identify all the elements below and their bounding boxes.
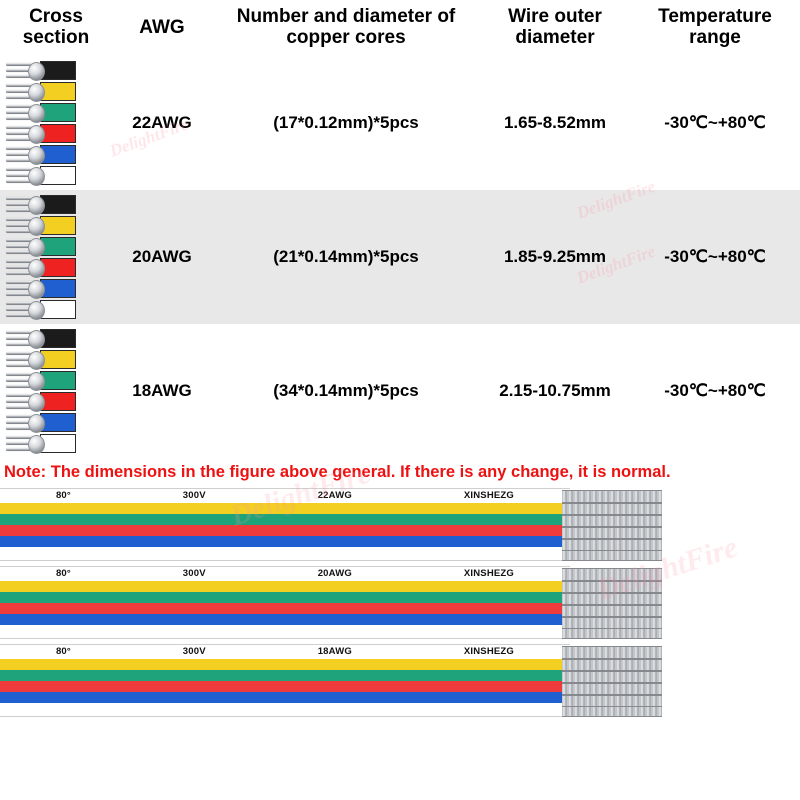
cell-awg: 20AWG	[112, 190, 212, 324]
cell-awg: 18AWG	[112, 324, 212, 458]
wire-unit	[6, 278, 76, 299]
copper-coil-icon	[6, 166, 40, 185]
header-outer-diameter: Wire outer diameter	[480, 0, 630, 56]
cell-cores: (21*0.14mm)*5pcs	[212, 190, 480, 324]
jacket-swatch	[40, 258, 76, 277]
jacket-swatch	[40, 103, 76, 122]
wire-unit	[6, 123, 76, 144]
header-temperature-range: Temperature range	[630, 0, 800, 56]
copper-coil-icon	[6, 371, 40, 390]
wire-spec-table: Cross section AWG Number and diameter of…	[0, 0, 800, 458]
jacket-swatch	[40, 195, 76, 214]
jacket-swatch	[40, 350, 76, 369]
wire-unit	[6, 328, 76, 349]
header-cores: Number and diameter of copper cores	[212, 0, 480, 56]
wire-unit	[6, 194, 76, 215]
jacket-swatch	[40, 166, 76, 185]
wire-unit	[6, 81, 76, 102]
cell-outer-diameter: 1.65-8.52mm	[480, 56, 630, 190]
jacket-swatch	[40, 300, 76, 319]
wire-unit	[6, 299, 76, 320]
wire-unit	[6, 370, 76, 391]
wire-unit	[6, 144, 76, 165]
wire-unit	[6, 215, 76, 236]
copper-coil-icon	[6, 145, 40, 164]
copper-coil-icon	[6, 237, 40, 256]
cell-awg: 22AWG	[112, 56, 212, 190]
cable-photo-22awg: 80° 300V 22AWG XINSHEZG	[0, 488, 800, 561]
wire-unit	[6, 433, 76, 454]
wire-unit	[6, 412, 76, 433]
cell-temperature: -30℃~+80℃	[630, 324, 800, 458]
copper-coil-icon	[6, 350, 40, 369]
copper-coil-icon	[6, 61, 40, 80]
cross-section-graphic	[0, 56, 112, 190]
copper-coil-icon	[6, 329, 40, 348]
cell-cores: (34*0.14mm)*5pcs	[212, 324, 480, 458]
jacket-swatch	[40, 216, 76, 235]
cell-cores: (17*0.12mm)*5pcs	[212, 56, 480, 190]
wire-unit	[6, 60, 76, 81]
copper-coil-icon	[6, 258, 40, 277]
tinned-ends	[562, 644, 662, 717]
copper-coil-icon	[6, 413, 40, 432]
wire-unit	[6, 391, 76, 412]
jacket-swatch	[40, 82, 76, 101]
jacket-swatch	[40, 329, 76, 348]
copper-coil-icon	[6, 195, 40, 214]
jacket-swatch	[40, 392, 76, 411]
table-row: 20AWG (21*0.14mm)*5pcs 1.85-9.25mm -30℃~…	[0, 190, 800, 324]
wire-bundle-22awg	[6, 60, 112, 186]
cable-wire-strip: 80° 300V 18AWG XINSHEZG	[0, 644, 570, 717]
note-text: Note: The dimensions in the figure above…	[0, 458, 800, 488]
cable-wire-strip: 80° 300V 22AWG XINSHEZG	[0, 488, 570, 561]
jacket-swatch	[40, 413, 76, 432]
copper-coil-icon	[6, 434, 40, 453]
jacket-swatch	[40, 124, 76, 143]
cell-outer-diameter: 2.15-10.75mm	[480, 324, 630, 458]
copper-coil-icon	[6, 300, 40, 319]
wire-unit	[6, 102, 76, 123]
header-cross-section: Cross section	[0, 0, 112, 56]
copper-coil-icon	[6, 392, 40, 411]
cell-temperature: -30℃~+80℃	[630, 190, 800, 324]
jacket-swatch	[40, 371, 76, 390]
cross-section-graphic	[0, 190, 112, 324]
wire-unit	[6, 257, 76, 278]
jacket-swatch	[40, 145, 76, 164]
header-row: Cross section AWG Number and diameter of…	[0, 0, 800, 56]
cable-wire-strip: 80° 300V 20AWG XINSHEZG	[0, 566, 570, 639]
copper-coil-icon	[6, 124, 40, 143]
cell-outer-diameter: 1.85-9.25mm	[480, 190, 630, 324]
copper-coil-icon	[6, 216, 40, 235]
tinned-ends	[562, 566, 662, 639]
table-row: 18AWG (34*0.14mm)*5pcs 2.15-10.75mm -30℃…	[0, 324, 800, 458]
wire-bundle-20awg	[6, 194, 112, 320]
wire-unit	[6, 236, 76, 257]
jacket-swatch	[40, 61, 76, 80]
jacket-swatch	[40, 434, 76, 453]
cross-section-graphic	[0, 324, 112, 458]
jacket-swatch	[40, 279, 76, 298]
wire-unit	[6, 165, 76, 186]
copper-coil-icon	[6, 82, 40, 101]
table-header: Cross section AWG Number and diameter of…	[0, 0, 800, 56]
tinned-ends	[562, 488, 662, 561]
cable-photo-20awg: 80° 300V 20AWG XINSHEZG	[0, 566, 800, 639]
wire-unit	[6, 349, 76, 370]
cable-photo-18awg: 80° 300V 18AWG XINSHEZG	[0, 644, 800, 717]
copper-coil-icon	[6, 103, 40, 122]
copper-coil-icon	[6, 279, 40, 298]
cable-photo-section: 80° 300V 22AWG XINSHEZG 80° 300V	[0, 488, 800, 717]
cell-temperature: -30℃~+80℃	[630, 56, 800, 190]
table-row: 22AWG (17*0.12mm)*5pcs 1.65-8.52mm -30℃~…	[0, 56, 800, 190]
header-awg: AWG	[112, 0, 212, 56]
jacket-swatch	[40, 237, 76, 256]
table-body: 22AWG (17*0.12mm)*5pcs 1.65-8.52mm -30℃~…	[0, 56, 800, 458]
wire-bundle-18awg	[6, 328, 112, 454]
